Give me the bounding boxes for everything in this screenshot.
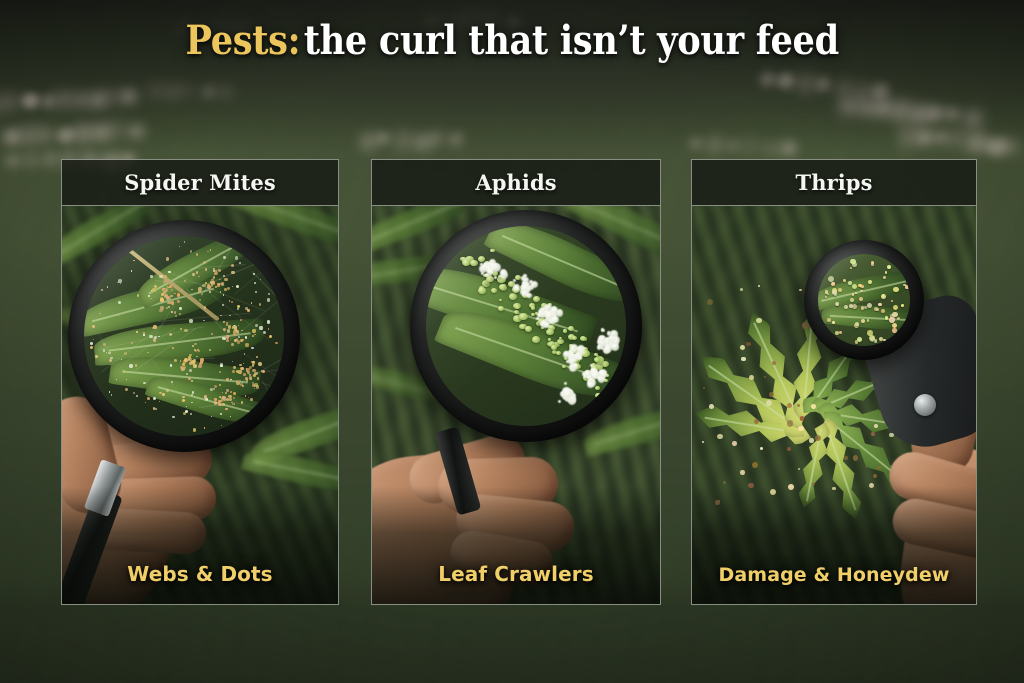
honeydew-speck <box>850 267 852 269</box>
panel-header-aphids: Aphids <box>371 159 661 205</box>
damage-speck <box>844 456 847 459</box>
aphid-wax <box>564 390 571 397</box>
aphid <box>572 336 577 340</box>
damage-speck <box>809 438 814 443</box>
aphid-wax <box>564 382 567 385</box>
aphid <box>478 287 487 294</box>
leaflet <box>692 344 814 449</box>
panel-header-thrips: Thrips <box>691 159 977 205</box>
panel-title-label: Aphids <box>475 170 556 195</box>
panel-aphids[interactable]: Aphids <box>371 159 661 605</box>
honeydew-speck <box>881 309 885 313</box>
damage-speck <box>709 404 714 409</box>
aphid-wax <box>608 335 615 342</box>
panel-body-spider-mites: Webs & Dots <box>61 205 339 605</box>
damage-speck <box>772 361 776 365</box>
damage-speck <box>707 299 713 305</box>
honeydew-speck <box>868 280 872 284</box>
honeydew-speck <box>885 271 887 273</box>
damage-speck <box>787 420 793 426</box>
panel-thrips[interactable]: Thrips <box>691 159 977 605</box>
aphid-wax <box>545 311 553 319</box>
mite-webbing <box>84 236 284 436</box>
honeydew-speck <box>860 290 862 292</box>
damage-speck <box>723 481 726 484</box>
honeydew-speck <box>867 319 869 321</box>
honeydew-speck <box>878 303 881 306</box>
aphid-wax <box>513 279 517 283</box>
honeydew-speck <box>901 304 904 307</box>
aphid <box>533 296 540 302</box>
damage-speck <box>764 376 766 378</box>
damage-speck <box>732 441 737 446</box>
honeydew-speck <box>859 297 863 301</box>
honeydew-speck <box>889 317 895 323</box>
aphid <box>515 305 521 310</box>
honeydew-speck <box>891 300 893 302</box>
aphid <box>470 260 478 267</box>
aphid <box>595 393 601 398</box>
honeydew-speck <box>852 293 855 296</box>
honeydew-speck <box>825 290 829 294</box>
headline-rest: the curl that isn’t your feed <box>304 17 839 64</box>
aphid-wax <box>523 274 527 278</box>
damage-speck <box>799 289 802 292</box>
web-strand <box>199 404 224 408</box>
aphid <box>532 336 541 343</box>
caption-band-thrips: Damage & Honeydew <box>692 486 976 604</box>
web-strand <box>97 326 204 350</box>
aphid-wax <box>538 313 542 317</box>
aphid-wax <box>587 381 594 388</box>
caption-band-aphids: Leaf Crawlers <box>372 486 660 604</box>
aphid <box>491 288 497 293</box>
honeydew-speck <box>825 296 827 298</box>
honeydew-speck <box>893 287 898 292</box>
honeydew-speck <box>867 303 872 308</box>
aphid <box>531 306 535 310</box>
damage-speck <box>766 400 772 406</box>
magnifier-lens <box>426 226 626 426</box>
damage-speck <box>702 441 704 443</box>
aphid <box>568 326 574 331</box>
honeydew-speck <box>835 302 839 306</box>
honeydew-speck <box>827 318 831 322</box>
damage-speck <box>798 426 804 432</box>
web-strand <box>230 284 284 341</box>
honeydew-speck <box>858 284 862 288</box>
aphid <box>548 338 551 341</box>
panel-body-thrips: Damage & Honeydew <box>691 205 977 605</box>
panel-caption-label: Damage & Honeydew <box>719 564 950 586</box>
damage-speck <box>871 432 875 436</box>
aphid <box>490 249 494 253</box>
aphid <box>531 313 535 317</box>
damage-speck <box>873 474 877 478</box>
infographic-root: Pests:the curl that isn’t your feed Spid… <box>0 0 1024 683</box>
aphid-wax <box>558 400 561 403</box>
aphid <box>519 313 528 320</box>
damage-speck <box>787 447 791 451</box>
honeydew-speck <box>883 339 885 341</box>
honeydew-speck <box>857 337 862 342</box>
web-strand <box>226 399 281 416</box>
honeydew-speck <box>834 293 838 297</box>
honeydew-speck <box>905 285 908 288</box>
honeydew-speck <box>838 288 842 292</box>
honeydew-speck <box>893 305 898 310</box>
honeydew-speck <box>831 282 836 287</box>
damage-speck <box>758 285 761 288</box>
panel-header-spider-mites: Spider Mites <box>61 159 339 205</box>
web-strand <box>261 382 284 396</box>
aphid-wax <box>611 343 618 350</box>
panel-caption-label: Leaf Crawlers <box>438 562 593 586</box>
honeydew-speck <box>827 293 829 295</box>
aphid-wax <box>592 372 598 378</box>
panel-caption-label: Webs & Dots <box>127 562 272 586</box>
aphid <box>498 306 504 311</box>
honeydew-speck <box>869 335 875 341</box>
aphid <box>562 365 566 368</box>
web-strand <box>97 333 111 356</box>
aphid <box>551 345 557 350</box>
web-strand <box>251 271 283 304</box>
headline: Pests:the curl that isn’t your feed <box>0 18 1024 64</box>
honeydew-speck <box>852 284 857 289</box>
honeydew-speck <box>852 262 857 267</box>
honeydew-speck <box>897 317 900 320</box>
magnifier-lens <box>84 236 284 436</box>
honeydew-speck <box>883 276 886 279</box>
damage-speck <box>746 342 751 347</box>
aphid <box>556 351 561 355</box>
honeydew-speck <box>892 328 897 333</box>
honeydew-speck <box>864 306 866 308</box>
aphid-wax <box>589 378 593 382</box>
honeydew-speck <box>876 308 879 311</box>
panel-grid: Spider Mites <box>0 0 1024 683</box>
aphid-colony <box>426 226 626 426</box>
web-strand <box>150 357 189 405</box>
damage-speck <box>800 416 805 421</box>
damage-speck <box>703 387 705 389</box>
aphid <box>563 329 568 333</box>
aphid <box>594 357 599 361</box>
honeydew-speck <box>871 262 874 265</box>
honeydew-speck <box>881 294 886 299</box>
damage-speck <box>812 483 814 485</box>
honeydew-speck <box>850 298 854 302</box>
aphid-wax <box>563 351 569 357</box>
aphid <box>463 260 470 266</box>
damage-speck <box>760 447 763 450</box>
damage-speck <box>853 455 858 460</box>
aphid <box>499 299 502 302</box>
honeydew-speck <box>885 316 889 320</box>
honeydew-speck <box>887 265 892 270</box>
damage-speck <box>798 468 800 470</box>
loupe-thumbscrew <box>914 394 936 416</box>
honeydew-specks <box>818 254 910 346</box>
caption-band-spider-mites: Webs & Dots <box>62 486 338 604</box>
aphid <box>509 293 517 300</box>
aphid-wax <box>570 359 574 363</box>
panel-body-aphids: Leaf Crawlers <box>371 205 661 605</box>
aphid-wax <box>598 376 602 380</box>
panel-spider-mites[interactable]: Spider Mites <box>61 159 339 605</box>
damage-speck <box>740 470 744 474</box>
honeydew-speck <box>844 305 848 309</box>
aphid <box>557 339 563 344</box>
honeydew-speck <box>843 279 847 283</box>
aphid-wax <box>544 322 550 328</box>
loupe-lens <box>818 254 910 346</box>
web-strand <box>167 271 266 312</box>
honeydew-speck <box>892 312 898 318</box>
aphid <box>525 326 532 332</box>
web-strand <box>188 357 215 360</box>
damage-speck <box>811 404 816 409</box>
aphid-wax <box>597 345 602 350</box>
aphid-wax <box>526 293 532 299</box>
aphid <box>595 386 600 390</box>
damage-speck <box>769 392 774 397</box>
panel-title-label: Thrips <box>795 170 872 195</box>
damage-speck <box>740 345 745 350</box>
aphid <box>580 336 586 341</box>
honeydew-speck <box>839 331 842 334</box>
damage-speck <box>740 288 743 291</box>
damage-speck <box>752 462 758 468</box>
honeydew-speck <box>855 292 857 294</box>
panel-title-label: Spider Mites <box>124 170 276 195</box>
web-strand <box>199 253 281 288</box>
damage-speck <box>741 357 745 361</box>
honeydew-speck <box>892 323 897 328</box>
headline-accent: Pests: <box>185 17 300 64</box>
aphid-wax <box>578 356 582 360</box>
damage-speck <box>756 318 761 323</box>
aphid-wax <box>599 336 605 342</box>
aphid-wax <box>604 344 613 353</box>
damage-speck <box>749 375 754 380</box>
honeydew-speck <box>861 319 865 323</box>
aphid <box>546 329 554 336</box>
honeydew-speck <box>832 321 835 324</box>
damage-speck <box>717 434 722 439</box>
aphid <box>499 284 506 290</box>
aphid <box>514 310 519 314</box>
aphid <box>594 353 597 356</box>
aphid-wax <box>500 269 507 276</box>
